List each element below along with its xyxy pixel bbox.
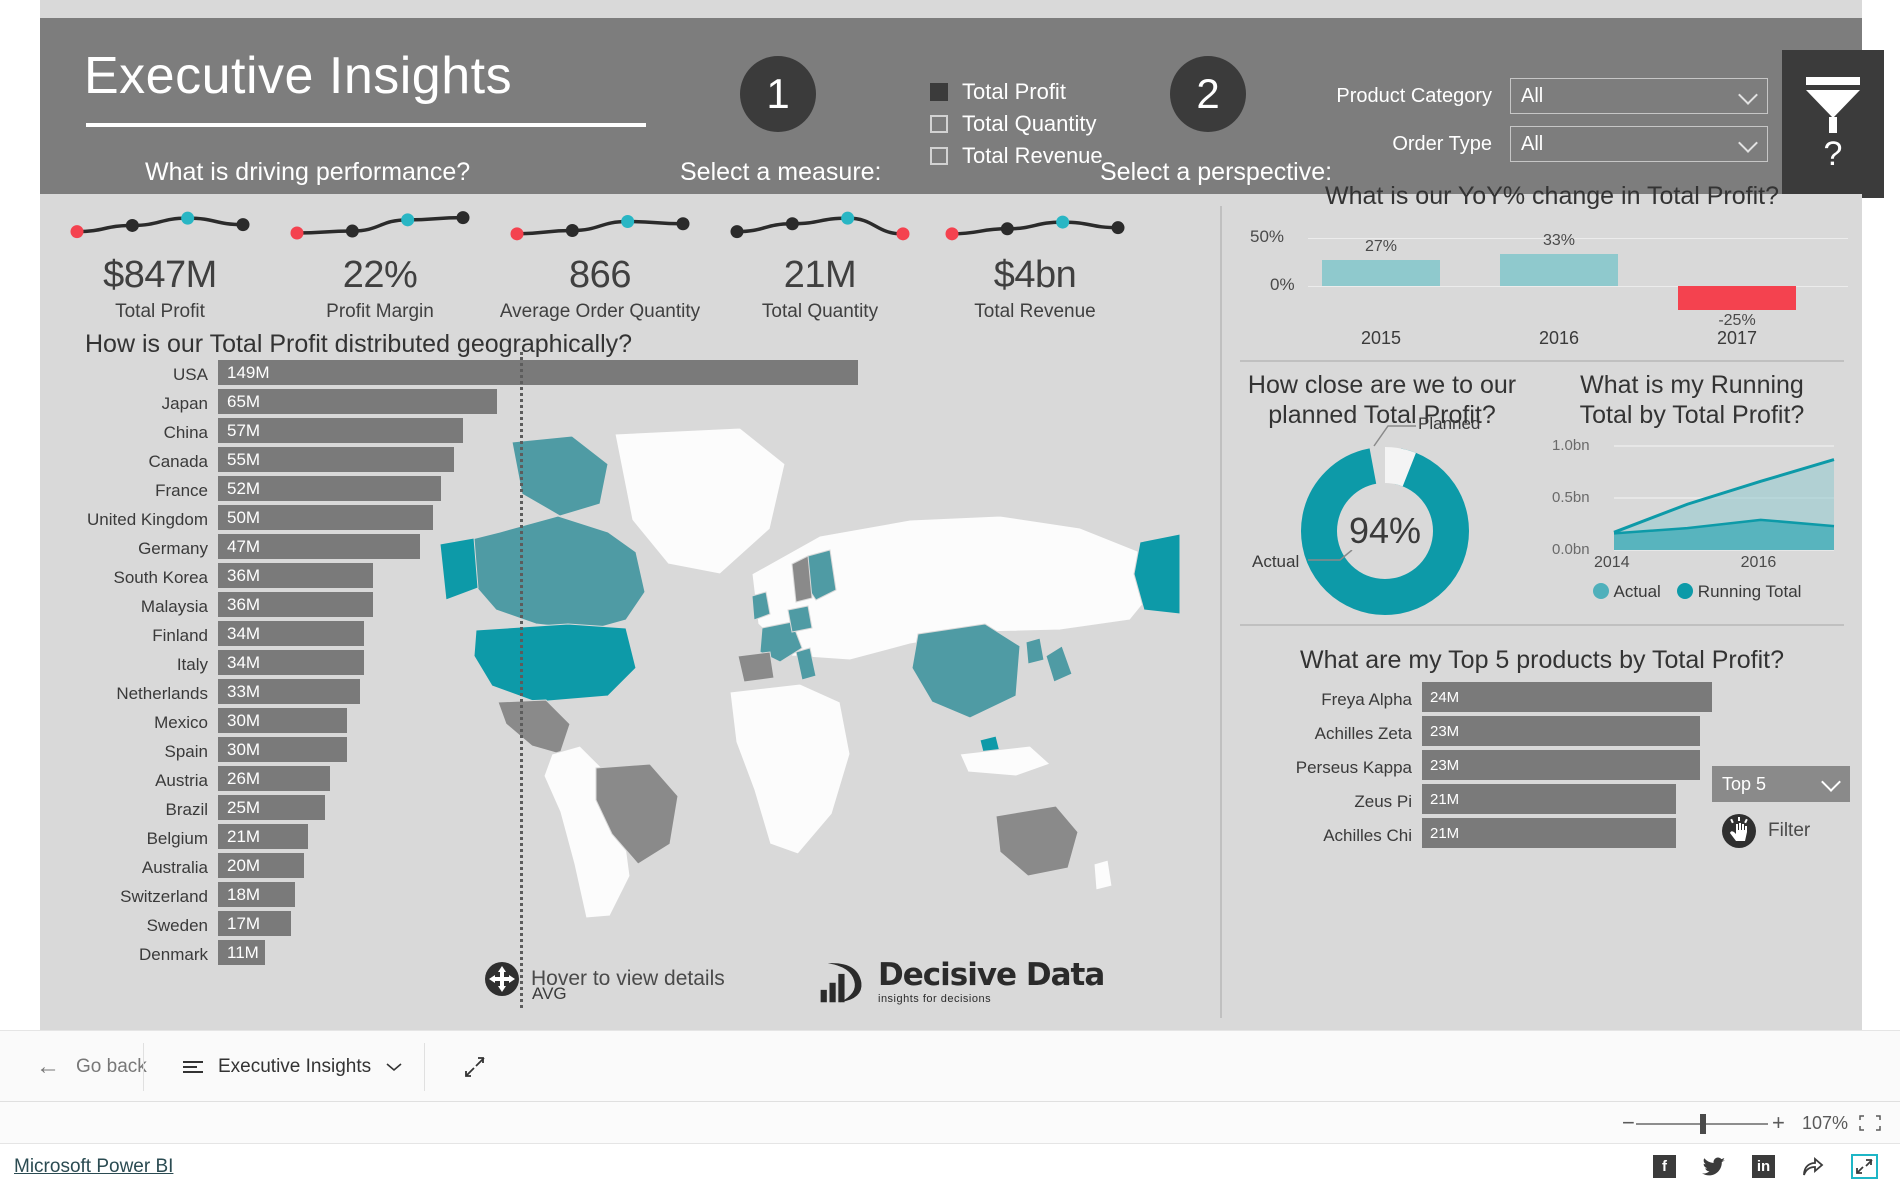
checkbox-icon[interactable] <box>930 115 948 133</box>
geo-bar-row[interactable]: United Kingdom50M <box>60 505 1000 534</box>
geo-bar-row[interactable]: USA149M <box>60 360 1000 389</box>
geo-bar-value: 25M <box>227 798 260 818</box>
geo-bar-fill[interactable]: 21M <box>218 824 308 849</box>
geo-bar-track: 30M <box>218 737 858 762</box>
yoy-bar[interactable] <box>1322 260 1440 286</box>
measure-option-total-profit[interactable]: Total Profit <box>930 76 1103 108</box>
geo-bar-label: Sweden <box>60 916 208 936</box>
zoom-slider-handle[interactable] <box>1700 1114 1706 1134</box>
geo-bar-fill[interactable]: 30M <box>218 708 347 733</box>
power-bi-report-page: Executive Insights What is driving perfo… <box>0 0 1900 1188</box>
geo-bar-value: 30M <box>227 711 260 731</box>
geo-bar-track: 33M <box>218 679 858 704</box>
kpi-card-average-order-quantity[interactable]: 866 Average Order Quantity <box>480 200 720 323</box>
kpi-value: 21M <box>720 254 920 297</box>
yoy-xtick: 2016 <box>1500 328 1618 349</box>
geo-bar-fill[interactable]: 17M <box>218 911 291 936</box>
sparkline-svg <box>725 200 915 248</box>
slicer-order-type[interactable]: Order Type All <box>1325 126 1768 162</box>
geo-bar-value: 17M <box>227 914 260 934</box>
geo-bar-track: 47M <box>218 534 858 559</box>
geo-bar-track: 21M <box>218 824 858 849</box>
kpi-caption: Total Revenue <box>935 301 1135 323</box>
sparkline-svg <box>940 200 1130 248</box>
social-share-bar: f in <box>1653 1154 1878 1179</box>
geo-bar-row[interactable]: Brazil25M <box>60 795 1000 824</box>
page-subtitle: What is driving performance? <box>145 158 470 187</box>
geo-bar-track: 25M <box>218 795 858 820</box>
geo-bar-row[interactable]: Belgium21M <box>60 824 1000 853</box>
geo-bar-value: 30M <box>227 740 260 760</box>
filter-hint-text: Filter <box>1768 820 1810 842</box>
step-1-badge: 1 <box>740 56 816 132</box>
yoy-bar-value: 33% <box>1500 232 1618 250</box>
geo-bar-track: 52M <box>218 476 858 501</box>
geo-bar-value: 18M <box>227 885 260 905</box>
logo-mark-icon <box>810 956 872 1006</box>
geo-bar-row[interactable]: Austria26M <box>60 766 1000 795</box>
geo-bar-track: 30M <box>218 708 858 733</box>
top5-bar-fill[interactable]: 21M <box>1422 784 1676 814</box>
top5-bar-row[interactable]: Achilles Zeta23M <box>1240 716 1720 750</box>
step-1-label: Select a measure: <box>680 158 882 187</box>
logo-name: Decisive Data <box>878 957 1104 993</box>
top5-bar-value: 23M <box>1430 723 1459 740</box>
top5-bar-track: 23M <box>1422 716 1712 746</box>
sparkline-svg <box>65 200 255 248</box>
geo-bar-row[interactable]: Canada55M <box>60 447 1000 476</box>
geo-bar-track: 65M <box>218 389 858 414</box>
geo-bar-fill[interactable]: 25M <box>218 795 325 820</box>
kpi-card-total-quantity[interactable]: 21M Total Quantity <box>720 200 920 323</box>
geo-bar-row[interactable]: Spain30M <box>60 737 1000 766</box>
nav-divider <box>143 1043 144 1091</box>
geo-bar-track: 55M <box>218 447 858 472</box>
geo-bar-track: 57M <box>218 418 858 443</box>
panel-divider <box>1240 624 1844 626</box>
geo-bar-row[interactable]: Germany47M <box>60 534 1000 563</box>
top5-bar-fill[interactable]: 21M <box>1422 818 1676 848</box>
sparkline-svg <box>505 200 695 248</box>
geo-bar-label: Australia <box>60 858 208 878</box>
geo-bar-fill[interactable]: 34M <box>218 621 364 646</box>
measure-selector[interactable]: Total Profit Total Quantity Total Revenu… <box>930 76 1103 172</box>
top5-bar-label: Freya Alpha <box>1240 690 1412 710</box>
geo-bar-label: USA <box>60 365 208 385</box>
geo-bar-fill[interactable]: 18M <box>218 882 295 907</box>
geo-chart-title: How is our Total Profit distributed geog… <box>85 330 632 359</box>
hover-details-hint: Hover to view details <box>485 962 725 996</box>
sparkline <box>725 200 915 250</box>
top5-bar-track: 21M <box>1422 818 1712 848</box>
chevron-down-icon[interactable] <box>1738 133 1758 153</box>
kpi-caption: Total Quantity <box>720 301 920 323</box>
zoom-out-button[interactable]: − <box>1622 1110 1635 1136</box>
geo-bar-fill[interactable]: 149M <box>218 360 858 385</box>
geo-bar-label: Switzerland <box>60 887 208 907</box>
geo-bar-fill[interactable]: 36M <box>218 563 373 588</box>
sparkline-svg <box>285 200 475 248</box>
geo-bar-fill[interactable]: 20M <box>218 853 304 878</box>
top5-bar-value: 24M <box>1430 689 1459 706</box>
rt-ytick: 0.0bn <box>1552 541 1590 558</box>
top-n-dropdown[interactable]: Top 5 <box>1712 766 1850 802</box>
geo-bar-row[interactable]: Malaysia36M <box>60 592 1000 621</box>
slicer-label: Product Category <box>1325 85 1510 108</box>
kpi-card-total-profit[interactable]: $847M Total Profit <box>60 200 260 323</box>
donut-center-value: 94% <box>1300 446 1470 616</box>
geo-bar-fill[interactable]: 52M <box>218 476 441 501</box>
zoom-percent-label: 107% <box>1802 1113 1848 1134</box>
fit-to-page-icon[interactable] <box>1858 1114 1882 1132</box>
geo-bar-track: 26M <box>218 766 858 791</box>
slicer-value: All <box>1521 85 1543 108</box>
top5-bar-row[interactable]: Perseus Kappa23M <box>1240 750 1720 784</box>
report-body: $847M Total Profit 22% Profit Margin 866… <box>40 194 1862 1030</box>
nav-divider <box>424 1043 425 1091</box>
top5-bar-label: Perseus Kappa <box>1240 758 1412 778</box>
yoy-xtick: 2015 <box>1322 328 1440 349</box>
logo-tagline: insights for decisions <box>878 993 1104 1005</box>
top5-bar-label: Zeus Pi <box>1240 792 1412 812</box>
geo-bar-value: 21M <box>227 827 260 847</box>
geo-bar-label: Japan <box>60 394 208 414</box>
geo-bar-value: 55M <box>227 450 260 470</box>
filter-help-button[interactable]: ? <box>1782 50 1884 198</box>
step-2-badge: 2 <box>1170 56 1246 132</box>
geo-bar-value: 20M <box>227 856 260 876</box>
geo-bar-row[interactable]: Switzerland18M <box>60 882 1000 911</box>
geo-bar-fill[interactable]: 26M <box>218 766 330 791</box>
geo-bar-fill[interactable]: 57M <box>218 418 463 443</box>
slicer-value: All <box>1521 133 1543 156</box>
geo-bar-row[interactable]: Netherlands33M <box>60 679 1000 708</box>
sparkline <box>940 200 1130 250</box>
kpi-caption: Profit Margin <box>280 301 480 323</box>
geo-bar-value: 47M <box>227 537 260 557</box>
measure-option-total-revenue[interactable]: Total Revenue <box>930 140 1103 172</box>
geo-bar-fill[interactable]: 36M <box>218 592 373 617</box>
geo-bar-label: China <box>60 423 208 443</box>
donut-leader-line-planned <box>1372 412 1432 452</box>
go-back-label: Go back <box>76 1056 147 1078</box>
geo-bar-row[interactable]: France52M <box>60 476 1000 505</box>
top5-bar-fill[interactable]: 23M <box>1422 750 1700 780</box>
kpi-strip: $847M Total Profit 22% Profit Margin 866… <box>40 194 1220 334</box>
average-reference-line <box>520 352 523 1008</box>
geo-bar-track: 149M <box>218 360 858 385</box>
report-header: Executive Insights What is driving perfo… <box>40 18 1862 194</box>
chevron-down-icon[interactable] <box>385 1061 403 1073</box>
rt-xtick: 2014 <box>1594 554 1630 572</box>
geo-bar-label: Belgium <box>60 829 208 849</box>
panel-divider <box>1240 360 1844 362</box>
page-selector[interactable]: Executive Insights <box>160 1031 425 1103</box>
geo-bar-label: United Kingdom <box>60 510 208 530</box>
top5-bar-row[interactable]: Freya Alpha24M <box>1240 682 1720 716</box>
slicer-product-category[interactable]: Product Category All <box>1325 78 1768 114</box>
collapse-button[interactable] <box>440 1031 510 1103</box>
top5-bar-track: 21M <box>1422 784 1712 814</box>
donut-leader-line-actual <box>1306 550 1366 584</box>
geo-bar-label: South Korea <box>60 568 208 588</box>
share-icon[interactable] <box>1801 1156 1825 1178</box>
yoy-bar[interactable] <box>1500 254 1618 286</box>
decisive-data-logo: Decisive Data insights for decisions <box>810 956 1104 1006</box>
kpi-value: 22% <box>280 254 480 297</box>
measure-label: Total Revenue <box>962 143 1103 169</box>
filter-funnel-icon <box>1806 77 1860 133</box>
sparkline <box>505 200 695 250</box>
geo-bar-value: 34M <box>227 624 260 644</box>
sparkline <box>65 200 255 250</box>
geo-bar-row[interactable]: Mexico30M <box>60 708 1000 737</box>
top5-bar-track: 24M <box>1422 682 1712 712</box>
zoom-in-button[interactable]: + <box>1772 1110 1785 1136</box>
kpi-value: $847M <box>60 254 260 297</box>
geo-bar-value: 11M <box>227 943 259 963</box>
top5-bar-row[interactable]: Achilles Chi21M <box>1240 818 1720 852</box>
geo-bar-track: 20M <box>218 853 858 878</box>
kpi-value: $4bn <box>935 254 1135 297</box>
geo-bar-value: 57M <box>227 421 260 441</box>
running-total-legend: Actual Running Total <box>1552 582 1842 602</box>
chevron-down-icon[interactable] <box>1738 85 1758 105</box>
move-cursor-icon <box>485 962 519 996</box>
running-total-area-chart[interactable]: 1.0bn0.5bn0.0bn20142016 <box>1552 432 1842 576</box>
geo-bar-label: Finland <box>60 626 208 646</box>
slicer-group: Product Category All Order Type All <box>1325 78 1768 174</box>
top5-bar-label: Achilles Zeta <box>1240 724 1412 744</box>
collapse-icon <box>462 1054 488 1080</box>
hamburger-icon <box>182 1059 204 1075</box>
page-title: Executive Insights <box>84 46 512 106</box>
power-bi-link[interactable]: Microsoft Power BI <box>14 1156 173 1178</box>
checkbox-icon[interactable] <box>930 83 948 101</box>
legend-running-total: Running Total <box>1677 582 1802 602</box>
yoy-bar-value: 27% <box>1322 238 1440 256</box>
left-margin <box>0 0 40 1030</box>
linkedin-icon[interactable]: in <box>1752 1155 1775 1178</box>
measure-label: Total Quantity <box>962 111 1097 137</box>
geo-bar-label: Canada <box>60 452 208 472</box>
report-footer: Microsoft Power BI f in <box>0 1144 1900 1188</box>
measure-option-total-quantity[interactable]: Total Quantity <box>930 108 1103 140</box>
geo-bar-row[interactable]: Australia20M <box>60 853 1000 882</box>
geo-bar-label: Netherlands <box>60 684 208 704</box>
geo-bar-label: France <box>60 481 208 501</box>
geo-bar-label: Germany <box>60 539 208 559</box>
top5-bar-fill[interactable]: 24M <box>1422 682 1712 712</box>
go-back-button[interactable]: ← Go back <box>14 1031 169 1103</box>
geo-bar-value: 36M <box>227 566 260 586</box>
geo-bar-value: 65M <box>227 392 260 412</box>
geo-bar-row[interactable]: China57M <box>60 418 1000 447</box>
top5-bar-value: 23M <box>1430 757 1459 774</box>
geo-bar-value: 52M <box>227 479 260 499</box>
geo-bar-track: 17M <box>218 911 858 936</box>
geo-bar-track: 36M <box>218 563 858 588</box>
kpi-value: 866 <box>480 254 720 297</box>
geo-bar-track: 18M <box>218 882 858 907</box>
rt-xtick: 2016 <box>1741 554 1777 572</box>
measure-label: Total Profit <box>962 79 1066 105</box>
geo-bar-label: Denmark <box>60 945 208 965</box>
right-pane: What is our YoY% change in Total Profit?… <box>1222 194 1862 1030</box>
geo-bar-row[interactable]: Finland34M <box>60 621 1000 650</box>
top5-bar-value: 21M <box>1430 791 1459 808</box>
kpi-card-total-revenue[interactable]: $4bn Total Revenue <box>935 200 1135 323</box>
fullscreen-icon[interactable] <box>1851 1154 1878 1179</box>
geo-bar-label: Brazil <box>60 800 208 820</box>
kpi-caption: Total Profit <box>60 301 260 323</box>
yoy-ytick-50: 50% <box>1250 227 1284 247</box>
geo-bar-row[interactable]: South Korea36M <box>60 563 1000 592</box>
order-type-dropdown[interactable]: All <box>1510 126 1768 162</box>
legend-actual: Actual <box>1593 582 1661 602</box>
geo-bar-track: 34M <box>218 621 858 646</box>
geo-bar-value: 149M <box>227 363 270 383</box>
geo-bar-row[interactable]: Japan65M <box>60 389 1000 418</box>
geo-bar-track: 34M <box>218 650 858 675</box>
top5-bar-label: Achilles Chi <box>1240 826 1412 846</box>
geo-bar-label: Spain <box>60 742 208 762</box>
zoom-bar: − + 107% <box>0 1102 1900 1144</box>
top5-chart-title: What are my Top 5 products by Total Prof… <box>1240 646 1844 675</box>
geo-bar-value: 34M <box>227 653 260 673</box>
geo-bar-fill[interactable]: 65M <box>218 389 497 414</box>
yoy-chart-title: What is our YoY% change in Total Profit? <box>1250 182 1854 211</box>
geo-bar-label: Malaysia <box>60 597 208 617</box>
yoy-ytick-0: 0% <box>1270 275 1295 295</box>
geo-bar-label: Italy <box>60 655 208 675</box>
geo-bar-row[interactable]: Italy34M <box>60 650 1000 679</box>
geo-bar-fill[interactable]: 33M <box>218 679 360 704</box>
click-hand-icon <box>1722 814 1756 848</box>
geo-bar-value: 26M <box>227 769 260 789</box>
left-pane: $847M Total Profit 22% Profit Margin 866… <box>40 194 1220 1030</box>
geo-bar-fill[interactable]: 55M <box>218 447 454 472</box>
filter-hint: Filter <box>1722 814 1810 848</box>
back-arrow-icon: ← <box>36 1053 60 1081</box>
yoy-xtick: 2017 <box>1678 328 1796 349</box>
geo-bar-value: 36M <box>227 595 260 615</box>
geo-bar-chart[interactable]: USA149MJapan65MChina57MCanada55MFrance52… <box>60 360 1000 1000</box>
slicer-label: Order Type <box>1325 133 1510 156</box>
top-n-value: Top 5 <box>1722 774 1766 795</box>
hover-hint-text: Hover to view details <box>531 967 725 991</box>
rt-ytick: 0.5bn <box>1552 489 1590 506</box>
top5-bar-value: 21M <box>1430 825 1459 842</box>
title-underline <box>86 123 646 127</box>
geo-bar-fill[interactable]: 47M <box>218 534 420 559</box>
kpi-caption: Average Order Quantity <box>480 301 720 323</box>
rt-ytick: 1.0bn <box>1552 437 1590 454</box>
kpi-card-profit-margin[interactable]: 22% Profit Margin <box>280 200 480 323</box>
geo-bar-fill[interactable]: 30M <box>218 737 347 762</box>
geo-bar-track: 50M <box>218 505 858 530</box>
top5-bar-chart[interactable]: Freya Alpha24MAchilles Zeta23MPerseus Ka… <box>1240 682 1720 852</box>
twitter-icon[interactable] <box>1702 1157 1726 1177</box>
geo-bar-fill[interactable]: 34M <box>218 650 364 675</box>
current-page-label: Executive Insights <box>218 1056 371 1078</box>
sparkline <box>285 200 475 250</box>
facebook-icon[interactable]: f <box>1653 1155 1676 1178</box>
planned-vs-actual-donut[interactable]: 94% <box>1300 446 1470 616</box>
geo-bar-fill[interactable]: 11M <box>218 940 265 965</box>
geo-bar-value: 33M <box>227 682 260 702</box>
running-total-title: What is my Running Total by Total Profit… <box>1532 370 1852 430</box>
geo-bar-row[interactable]: Sweden17M <box>60 911 1000 940</box>
report-navbar: ← Go back Executive Insights <box>0 1030 1900 1102</box>
top5-bar-track: 23M <box>1422 750 1712 780</box>
geo-bar-label: Mexico <box>60 713 208 733</box>
donut-label-actual: Actual <box>1252 552 1299 572</box>
chevron-down-icon[interactable] <box>1821 772 1841 792</box>
question-mark-icon: ? <box>1824 137 1843 171</box>
product-category-dropdown[interactable]: All <box>1510 78 1768 114</box>
yoy-bar[interactable] <box>1678 286 1796 310</box>
geo-bar-track: 36M <box>218 592 858 617</box>
geo-bar-value: 50M <box>227 508 260 528</box>
top5-bar-row[interactable]: Zeus Pi21M <box>1240 784 1720 818</box>
geo-bar-label: Austria <box>60 771 208 791</box>
yoy-bar-chart[interactable]: 50%0%27%201533%2016-25%2017 <box>1250 216 1850 362</box>
top5-bar-fill[interactable]: 23M <box>1422 716 1700 746</box>
geo-bar-fill[interactable]: 50M <box>218 505 433 530</box>
checkbox-icon[interactable] <box>930 147 948 165</box>
